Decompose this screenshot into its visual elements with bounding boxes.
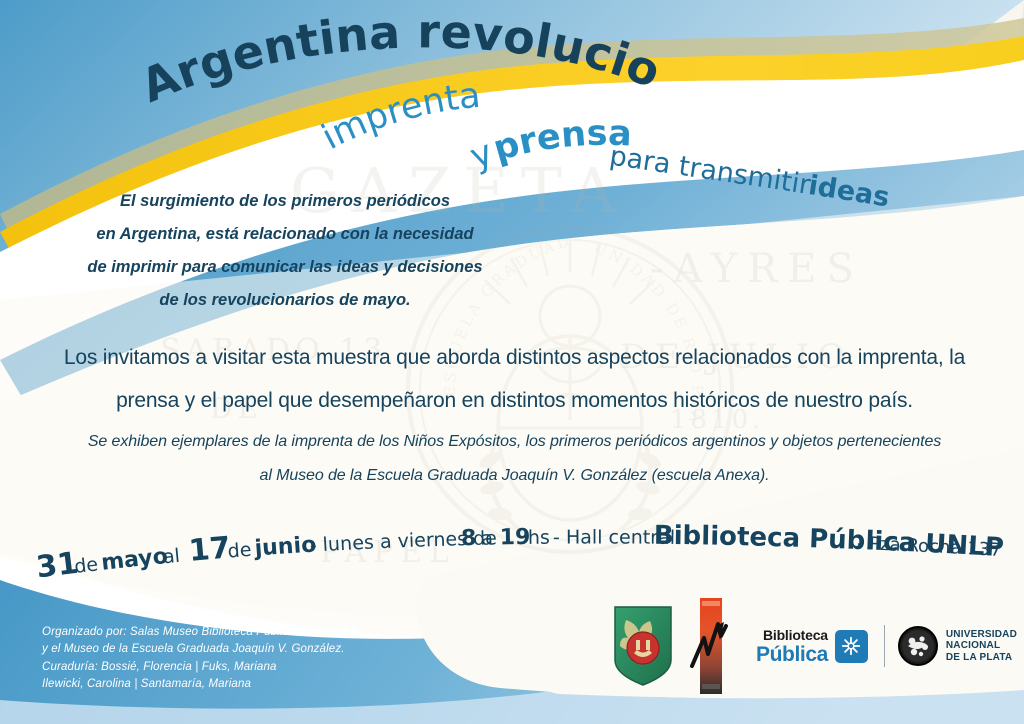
date-de-2: de [227,539,253,563]
unlp-line-2: NACIONAL [946,640,1017,651]
date-day-start: 31 [34,546,80,586]
credits-line-3: Curaduría: Bossié, Florencia | Fuks, Mar… [42,659,462,676]
logo-row: Biblioteca Pública [612,596,1017,696]
logo-divider [884,625,885,667]
date-month-end: junio [253,532,317,561]
biblioteca-publica-wordmark: Biblioteca Pública [756,628,828,665]
schedule-hour-sep: a [481,528,493,550]
date-de-1: de [73,553,99,578]
date-month-start: mayo [100,544,169,576]
publica-word: Pública [756,644,828,665]
credits-line-1: Organizado por: Salas Museo Biblioteca P… [42,624,462,641]
unlp-seal-icon [898,626,938,666]
schedule-hour-unit: hs [528,527,550,549]
unlp-line-3: DE LA PLATA [946,652,1017,663]
venue-address: - Pza Rocha 137 - La Plata [0,0,1002,561]
biblioteca-word: Biblioteca [763,628,828,642]
unlp-line-1: UNIVERSIDAD [946,629,1017,640]
escuela-graduada-shield-logo [612,604,674,688]
credits-block: Organizado por: Salas Museo Biblioteca P… [42,624,462,693]
poster-canvas: GAZETA -AYRES DE JULIO SABADO 13 DE 1810… [0,0,1024,724]
museo-m-logo [690,596,730,696]
credits-line-2: y el Museo de la Escuela Graduada Joaquí… [42,641,462,658]
snowflake-icon [835,630,868,663]
biblioteca-publica-logo: Biblioteca Pública [756,628,868,665]
unlp-logo: UNIVERSIDAD NACIONAL DE LA PLATA [898,626,1017,666]
schedule-hour-end: 19 [500,525,531,550]
date-day-end: 17 [187,530,231,568]
schedule-hour-start: 8 [461,526,477,551]
date-connector: al [162,545,181,568]
credits-line-4: Ilewicki, Carolina | Santamaría, Mariana [42,676,462,693]
unlp-wordmark: UNIVERSIDAD NACIONAL DE LA PLATA [946,629,1017,663]
